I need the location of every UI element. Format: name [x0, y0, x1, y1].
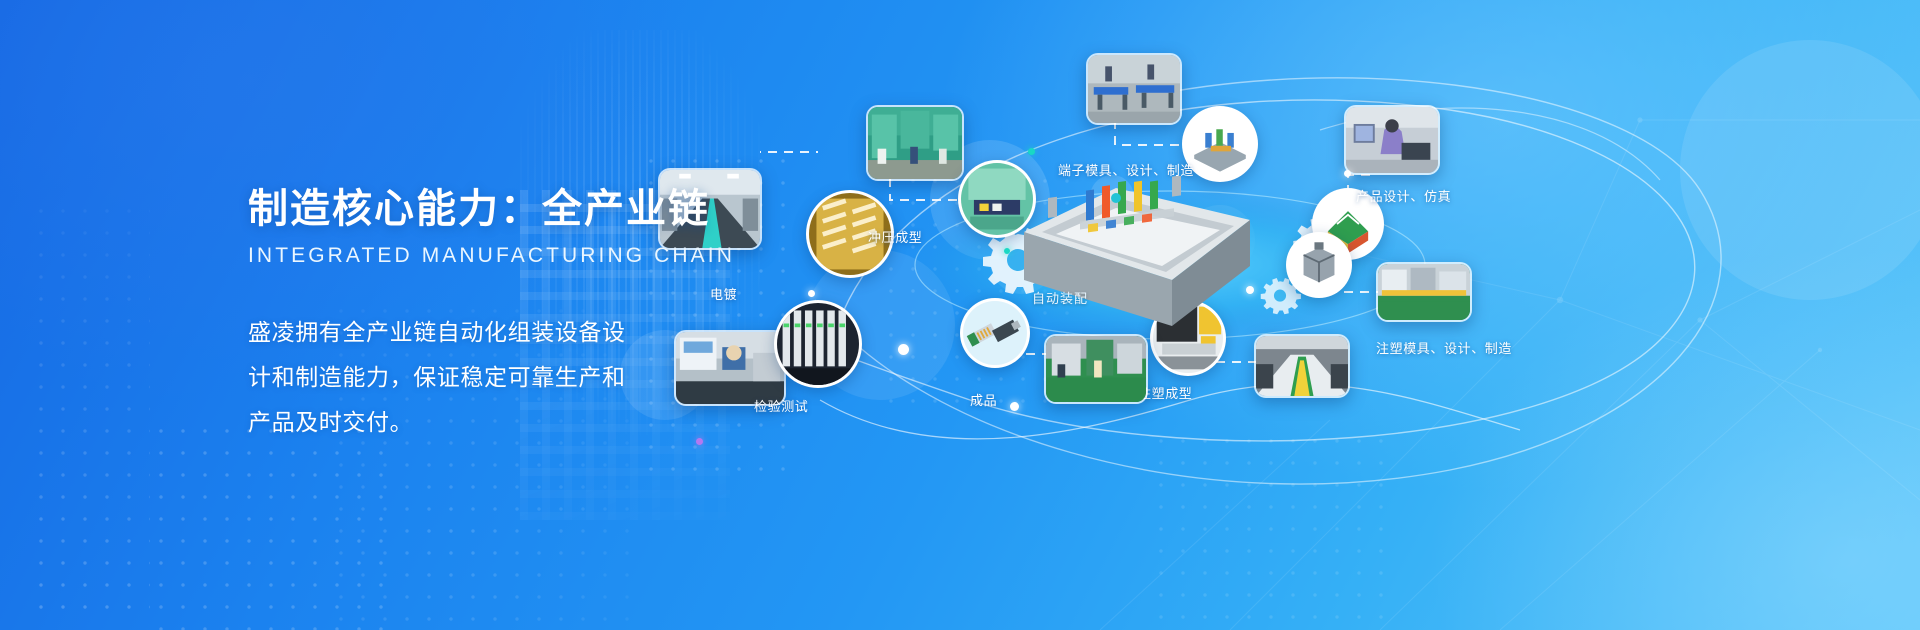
teal-accent-dot-1	[1028, 148, 1035, 155]
center-assembly-platform	[920, 176, 1420, 356]
stamping-shopfloor-photo-icon	[868, 107, 962, 179]
page-title: 制造核心能力：全产业链	[248, 186, 718, 232]
thumbnail-product-design	[1344, 105, 1440, 175]
orbit-dot-3	[1246, 286, 1254, 294]
description-line-3: 产品及时交付。	[248, 400, 718, 445]
automatic-assembly-device-icon	[920, 176, 1420, 356]
cad-workstation-photo-icon	[1346, 107, 1438, 173]
teal-accent-dot-2	[1004, 248, 1010, 254]
test-rack-icon	[777, 303, 859, 385]
node-inspection-test[interactable]	[774, 300, 862, 388]
orbit-dot-2	[1010, 402, 1019, 411]
process-chain-diagram: 电镀 冲压成型	[760, 0, 1920, 630]
description-line-2: 计和制造能力，保证稳定可靠生产和	[248, 355, 718, 400]
manufacturing-chain-banner: 制造核心能力：全产业链 INTEGRATED MANUFACTURING CHA…	[0, 0, 1920, 630]
caption-finished-goods: 成品	[970, 390, 997, 409]
caption-stamping: 冲压成型	[868, 227, 922, 246]
orbit-dot-1	[898, 344, 909, 355]
description-paragraph: 盛凌拥有全产业链自动化组装设备设 计和制造能力，保证稳定可靠生产和 产品及时交付…	[248, 310, 718, 445]
orbit-dot-5	[808, 290, 815, 297]
page-subtitle: INTEGRATED MANUFACTURING CHAIN	[248, 244, 718, 268]
terminal-mold-workshop-photo-icon	[1088, 55, 1180, 123]
copy-block: 制造核心能力：全产业链 INTEGRATED MANUFACTURING CHA…	[248, 186, 718, 445]
description-line-1: 盛凌拥有全产业链自动化组装设备设	[248, 310, 718, 355]
center-label-automatic-assembly: 自动装配	[1032, 288, 1088, 307]
caption-inspection-test: 检验测试	[754, 396, 808, 415]
terminal-mold-icon	[1185, 109, 1255, 179]
orbit-dot-4	[1344, 170, 1351, 177]
thumbnail-terminal-mold	[1086, 53, 1182, 125]
thumbnail-stamping	[866, 105, 964, 181]
